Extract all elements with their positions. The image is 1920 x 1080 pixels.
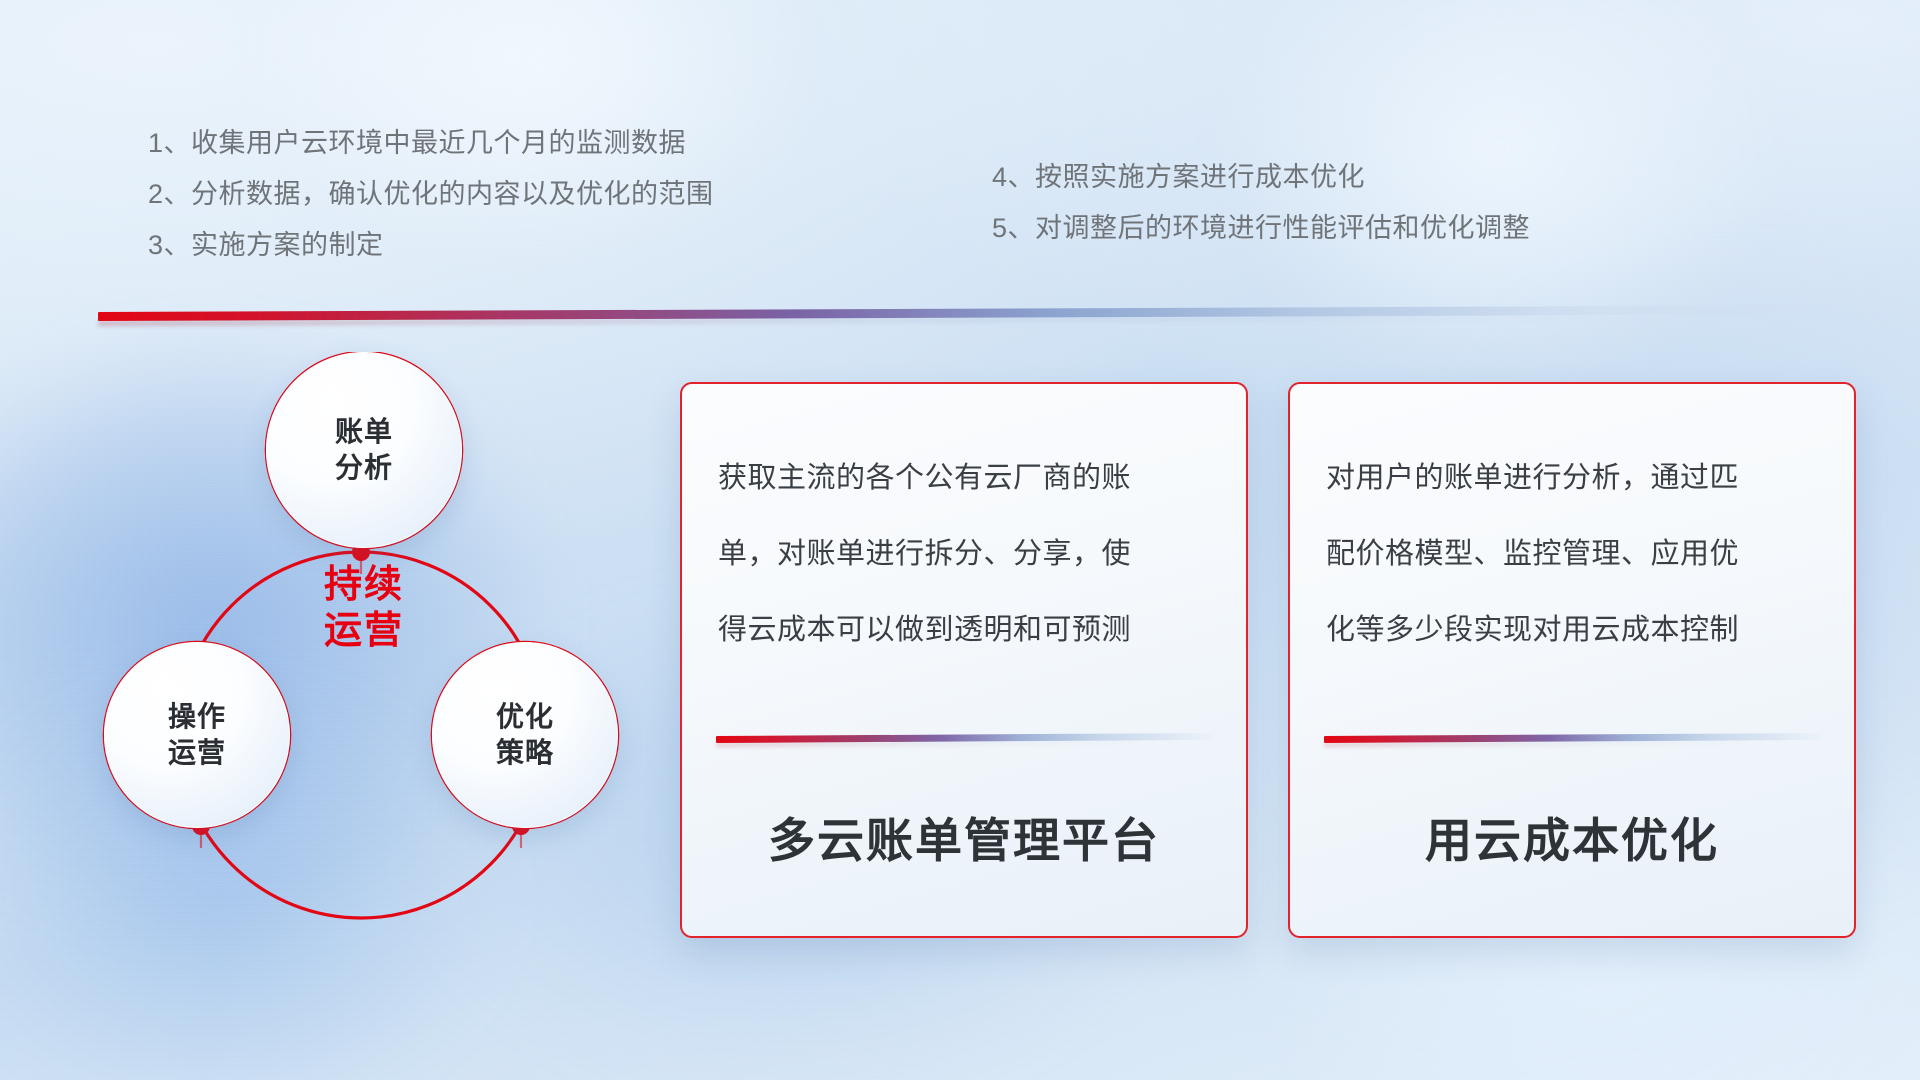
venn-bubble-label: 运营 xyxy=(168,735,226,771)
steps-list-left: 1、收集用户云环境中最近几个月的监测数据 2、分析数据，确认优化的内容以及优化的… xyxy=(148,118,868,271)
card-multicloud-billing-platform[interactable]: 获取主流的各个公有云厂商的账 单，对账单进行拆分、分享，使 得云成本可以做到透明… xyxy=(680,382,1248,938)
card-body: 对用户的账单进行分析，通过匹 配价格模型、监控管理、应用优 化等多少段实现对用云… xyxy=(1326,440,1822,668)
step-item: 2、分析数据，确认优化的内容以及优化的范围 xyxy=(148,169,868,220)
card-body-line: 单，对账单进行拆分、分享，使 xyxy=(718,516,1214,592)
card-body-line: 配价格模型、监控管理、应用优 xyxy=(1326,516,1822,592)
card-body-line: 对用户的账单进行分析，通过匹 xyxy=(1326,440,1822,516)
venn-bubble-billing-analysis[interactable]: 账单 分析 xyxy=(266,352,462,548)
venn-bubble-label: 账单 xyxy=(335,414,393,450)
venn-bubble-label: 策略 xyxy=(496,735,554,771)
card-title: 用云成本优化 xyxy=(1290,802,1854,871)
venn-bubble-label: 优化 xyxy=(496,699,554,735)
venn-center-label-line: 运营 xyxy=(266,608,462,654)
step-item: 1、收集用户云环境中最近几个月的监测数据 xyxy=(148,118,868,169)
step-item: 4、按照实施方案进行成本优化 xyxy=(992,152,1752,203)
venn-bubble-label: 操作 xyxy=(168,699,226,735)
venn-bubble-operations[interactable]: 操作 运营 xyxy=(104,642,290,828)
venn-bubble-label: 分析 xyxy=(335,450,393,486)
step-item: 5、对调整后的环境进行性能评估和优化调整 xyxy=(992,203,1752,254)
card-body-line: 得云成本可以做到透明和可预测 xyxy=(718,592,1214,668)
steps-list-right: 4、按照实施方案进行成本优化 5、对调整后的环境进行性能评估和优化调整 xyxy=(992,152,1752,254)
card-cloud-cost-optimization[interactable]: 对用户的账单进行分析，通过匹 配价格模型、监控管理、应用优 化等多少段实现对用云… xyxy=(1288,382,1856,938)
card-body: 获取主流的各个公有云厂商的账 单，对账单进行拆分、分享，使 得云成本可以做到透明… xyxy=(718,440,1214,668)
card-title: 多云账单管理平台 xyxy=(682,802,1246,871)
step-item: 3、实施方案的制定 xyxy=(148,220,868,271)
venn-center-label: 持续 运营 xyxy=(266,562,462,654)
card-body-line: 获取主流的各个公有云厂商的账 xyxy=(718,440,1214,516)
venn-diagram: 账单 分析 操作 运营 优化 策略 持续 运营 xyxy=(96,352,656,952)
card-body-line: 化等多少段实现对用云成本控制 xyxy=(1326,592,1822,668)
venn-bubble-optimization-strategy[interactable]: 优化 策略 xyxy=(432,642,618,828)
venn-center-label-line: 持续 xyxy=(266,562,462,608)
